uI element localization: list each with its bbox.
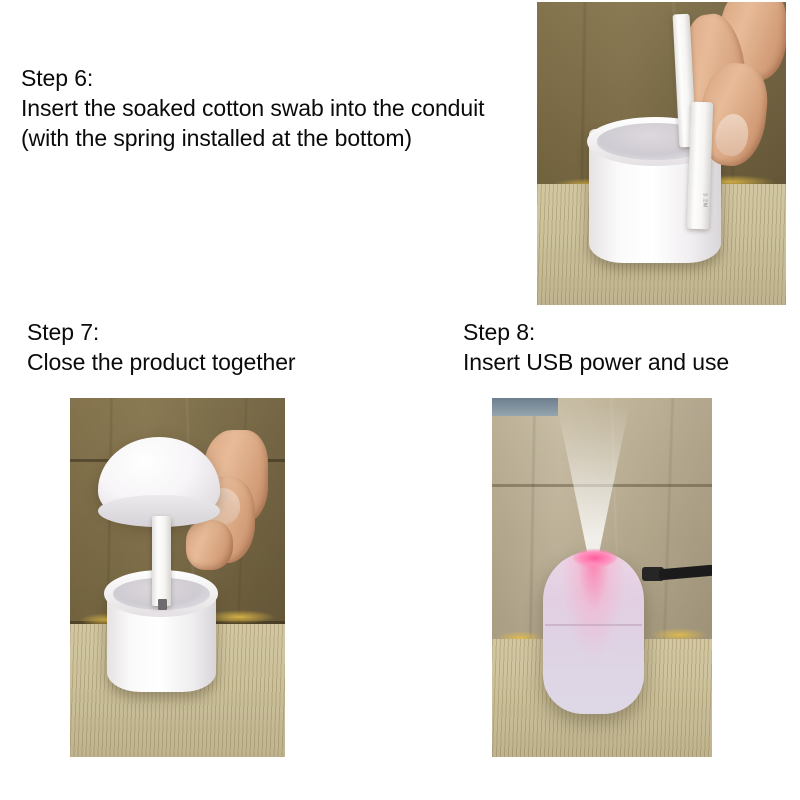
- step-6-line-2: (with the spring installed at the bottom…: [21, 123, 484, 153]
- stick-marking-text: 3.2M: [701, 193, 707, 208]
- conduit-tube: [152, 516, 171, 606]
- middle-finger: [186, 520, 233, 570]
- step-6-label: Step 6:: [21, 63, 484, 93]
- step-7-photo: [70, 398, 285, 757]
- step-8-label: Step 8:: [463, 317, 729, 347]
- step-6-photo: 3.2M: [537, 2, 786, 305]
- step-6-text-block: Step 6: Insert the soaked cotton swab in…: [21, 63, 484, 153]
- step-6-line-1: Insert the soaked cotton swab into the c…: [21, 93, 484, 123]
- conduit-tip: [158, 599, 167, 610]
- instruction-page: { "page": { "title": "Humidifier assembl…: [0, 0, 800, 800]
- step-8-photo: [492, 398, 712, 757]
- step-7-label: Step 7:: [27, 317, 295, 347]
- body-seam: [545, 624, 642, 626]
- step-8-line-1: Insert USB power and use: [463, 347, 729, 377]
- step-8-text-block: Step 8: Insert USB power and use: [463, 317, 729, 377]
- step-7-line-1: Close the product together: [27, 347, 295, 377]
- nozzle-glow: [573, 549, 617, 567]
- step-7-text-block: Step 7: Close the product together: [27, 317, 295, 377]
- background-shadow: [492, 398, 558, 416]
- humidifier-body: [543, 552, 644, 714]
